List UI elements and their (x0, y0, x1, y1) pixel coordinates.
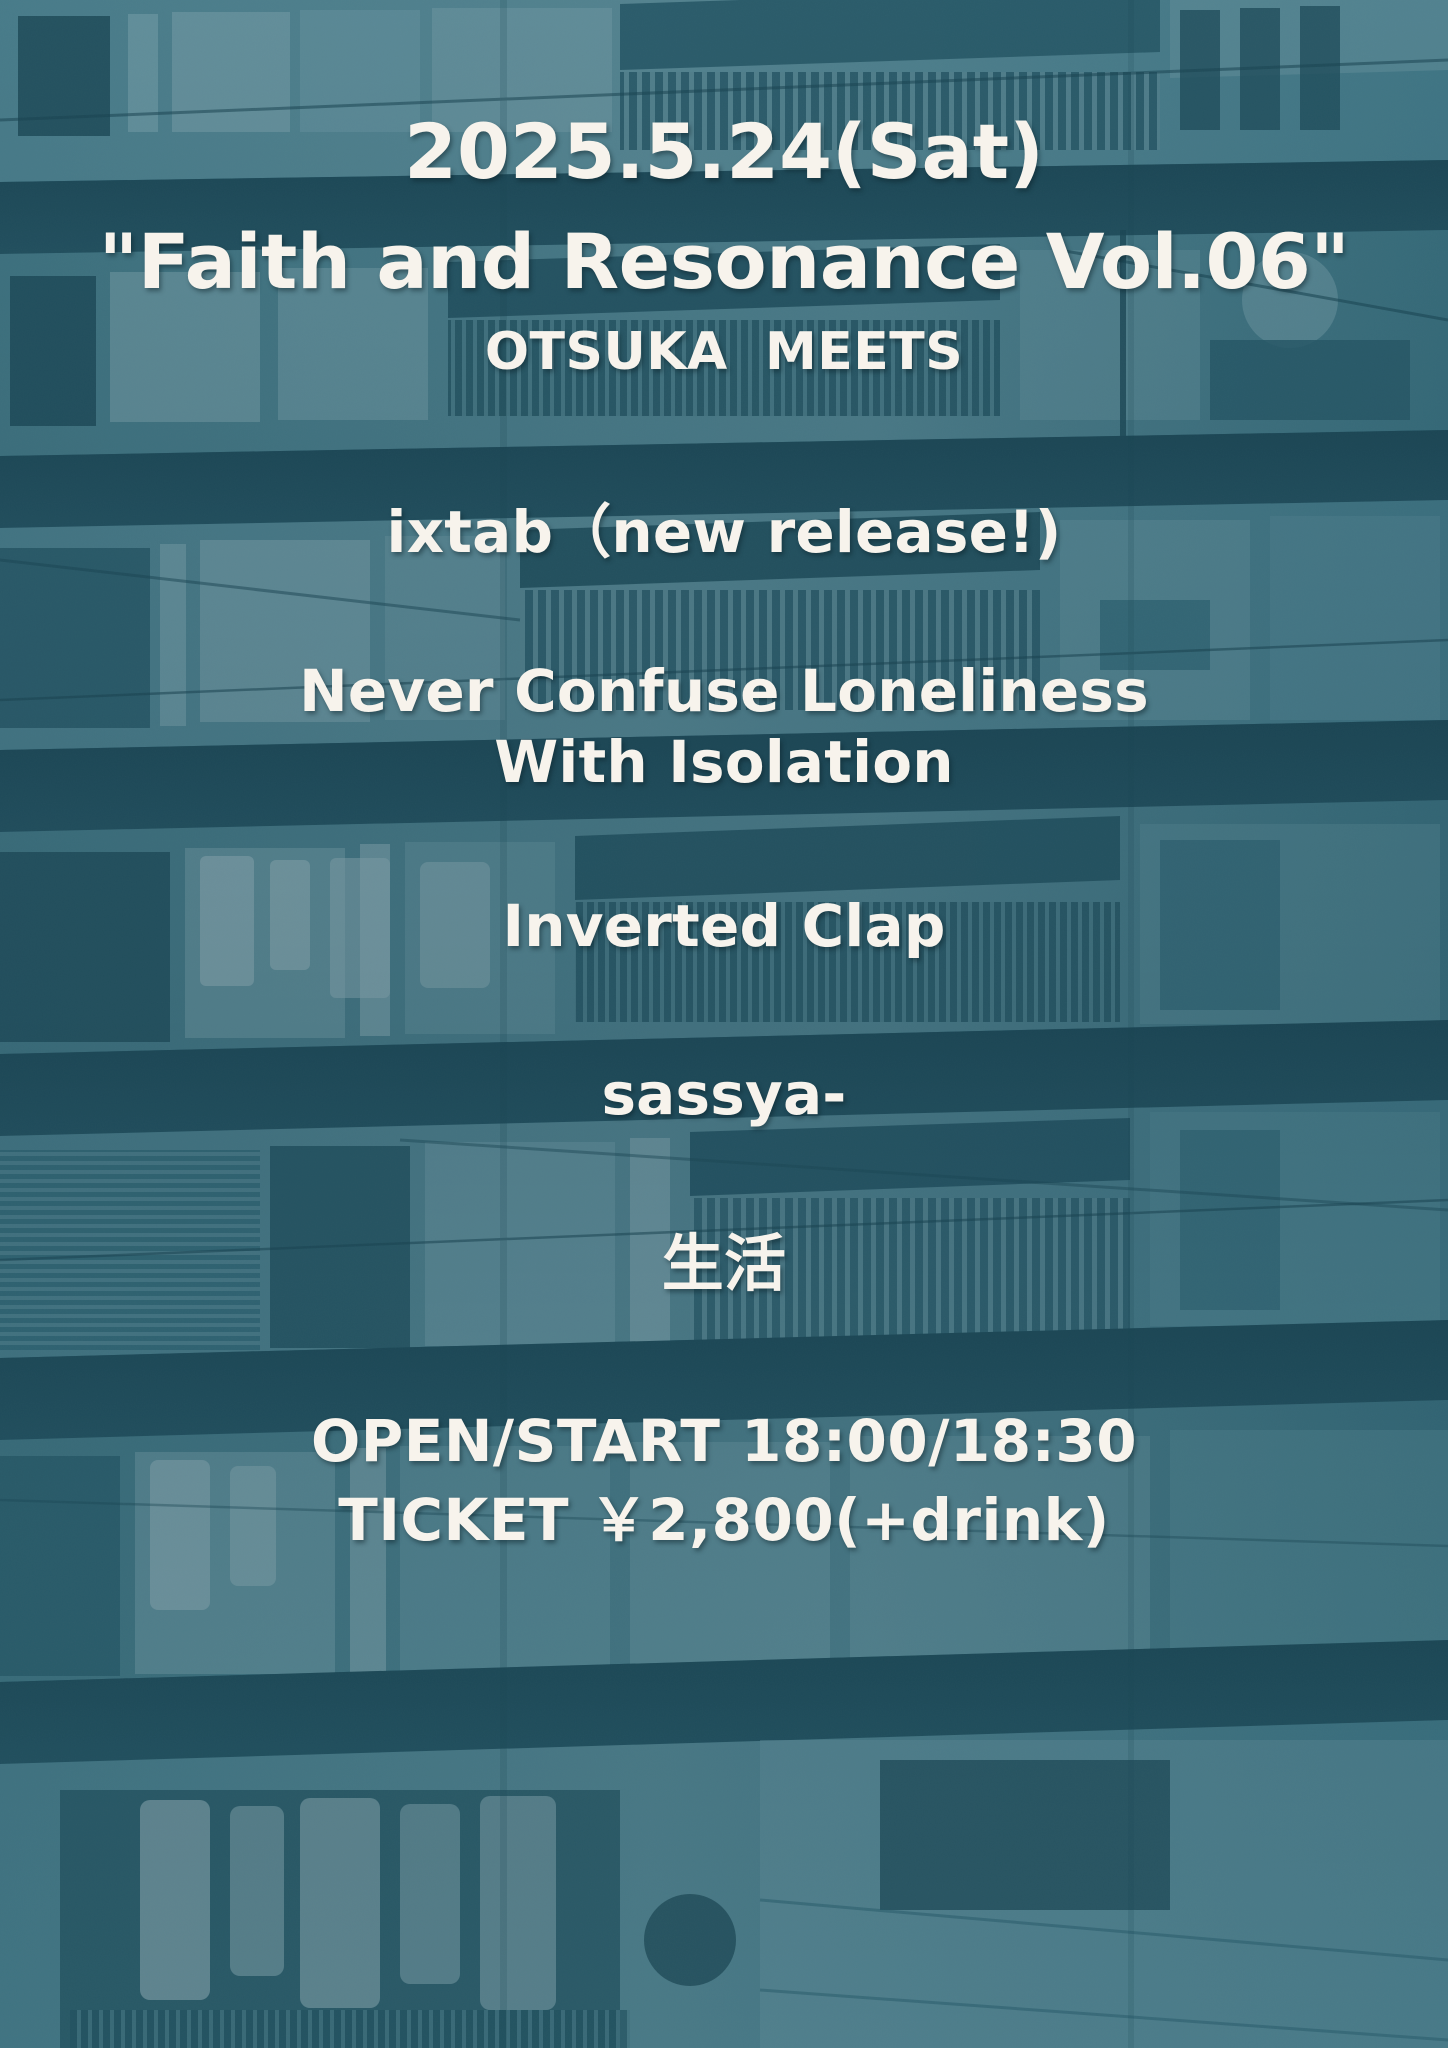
lineup-act-line-1: Never Confuse Loneliness (299, 657, 1149, 725)
event-title: "Faith and Resonance Vol.06" (0, 218, 1448, 306)
lineup-act-sassya: sassya- (0, 1061, 1448, 1128)
poster-content: 2025.5.24(Sat) "Faith and Resonance Vol.… (0, 0, 1448, 2048)
lineup-act-inverted-clap: Inverted Clap (0, 893, 1448, 960)
lineup-act-line-2: With Isolation (494, 728, 954, 796)
lineup-act-ixtab: ixtab（new release!) (0, 499, 1448, 566)
open-start-times: OPEN/START 18:00/18:30 (0, 1408, 1448, 1475)
lineup-act-seikatsu: 生活 (0, 1228, 1448, 1300)
event-poster: 2025.5.24(Sat) "Faith and Resonance Vol.… (0, 0, 1448, 2048)
venue-name: OTSUKA MEETS (0, 322, 1448, 382)
lineup-act-never-confuse-loneliness: Never Confuse LonelinessWith Isolation (0, 656, 1448, 798)
event-date: 2025.5.24(Sat) (0, 108, 1448, 196)
ticket-price: TICKET ￥2,800(+drink) (0, 1487, 1448, 1554)
